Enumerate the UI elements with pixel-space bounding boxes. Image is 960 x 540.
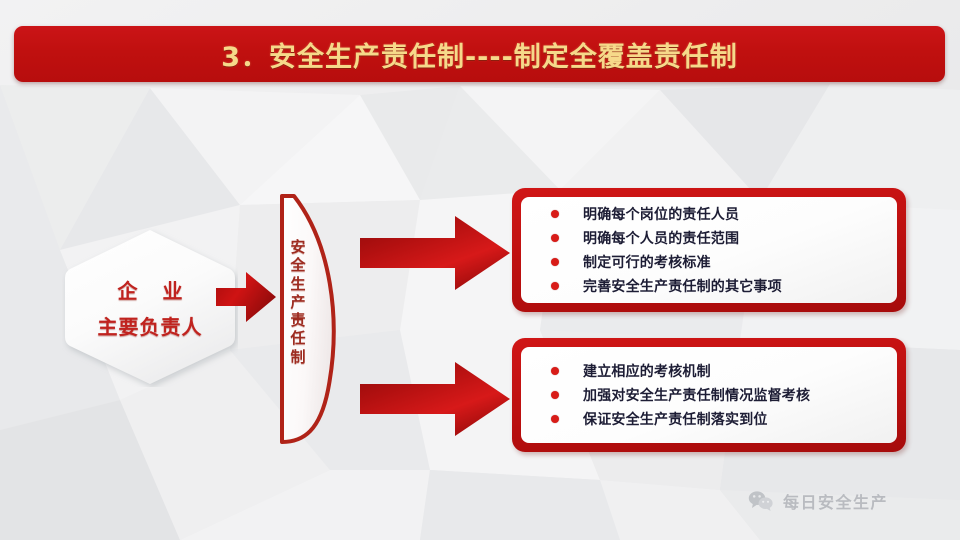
bullet-dot-icon [551, 367, 559, 375]
list-item-label: 明确每个人员的责任范围 [583, 228, 739, 248]
list-item: 加强对安全生产责任制情况监督考核 [551, 385, 889, 405]
content-box-2-inner: 建立相应的考核机制 加强对安全生产责任制情况监督考核 保证安全生产责任制落实到位 [521, 347, 897, 443]
page-title: 3．安全生产责任制----制定全覆盖责任制 [221, 35, 738, 74]
content-box-1: 明确每个岗位的责任人员 明确每个人员的责任范围 制定可行的考核标准 完善安全生产… [512, 188, 906, 312]
bullet-dot-icon [551, 391, 559, 399]
arrow-right-icon-bottom [360, 360, 512, 438]
list-item-label: 加强对安全生产责任制情况监督考核 [583, 385, 810, 405]
slide-canvas: 3．安全生产责任制----制定全覆盖责任制 企 业 主要负责人 [0, 0, 960, 540]
content-box-1-inner: 明确每个岗位的责任人员 明确每个人员的责任范围 制定可行的考核标准 完善安全生产… [521, 197, 897, 303]
bullet-dot-icon [551, 282, 559, 290]
slide-title-bar: 3．安全生产责任制----制定全覆盖责任制 [14, 26, 945, 82]
list-item-label: 建立相应的考核机制 [583, 361, 711, 381]
wechat-icon [748, 490, 774, 512]
watermark: 每日安全生产 [748, 489, 888, 513]
list-item-label: 明确每个岗位的责任人员 [583, 204, 739, 224]
list-item: 明确每个人员的责任范围 [551, 228, 889, 248]
arrow-right-icon-top [360, 214, 512, 292]
bullet-dot-icon [551, 210, 559, 218]
list-item: 建立相应的考核机制 [551, 361, 889, 381]
leaf-char-3: 产 [290, 293, 305, 311]
leaf-char-5: 任 [290, 329, 305, 347]
hexagon-line-1: 企 业 [109, 275, 192, 304]
list-item-label: 制定可行的考核标准 [583, 252, 711, 272]
content-box-2: 建立相应的考核机制 加强对安全生产责任制情况监督考核 保证安全生产责任制落实到位 [512, 338, 906, 452]
list-item: 制定可行的考核标准 [551, 252, 889, 272]
list-item-label: 完善安全生产责任制的其它事项 [583, 276, 782, 296]
leaf-char-0: 安 [290, 238, 305, 256]
list-item: 明确每个岗位的责任人员 [551, 204, 889, 224]
list-item-label: 保证安全生产责任制落实到位 [583, 409, 768, 429]
leaf-char-2: 生 [290, 275, 305, 293]
leaf-char-1: 全 [290, 256, 305, 274]
hexagon-line-2: 主要负责人 [98, 311, 203, 340]
watermark-label: 每日安全生产 [783, 489, 888, 513]
bullet-dot-icon [551, 415, 559, 423]
bullet-dot-icon [551, 234, 559, 242]
leaf-char-6: 制 [290, 348, 305, 366]
leaf-vertical-label: 安 全 生 产 责 任 制 [282, 238, 314, 366]
leaf-char-4: 责 [290, 311, 305, 329]
list-item: 完善安全生产责任制的其它事项 [551, 276, 889, 296]
hexagon-entity-leader: 企 业 主要负责人 [62, 227, 238, 387]
hexagon-label-group: 企 业 主要负责人 [62, 227, 238, 387]
bullet-dot-icon [551, 258, 559, 266]
list-item: 保证安全生产责任制落实到位 [551, 409, 889, 429]
